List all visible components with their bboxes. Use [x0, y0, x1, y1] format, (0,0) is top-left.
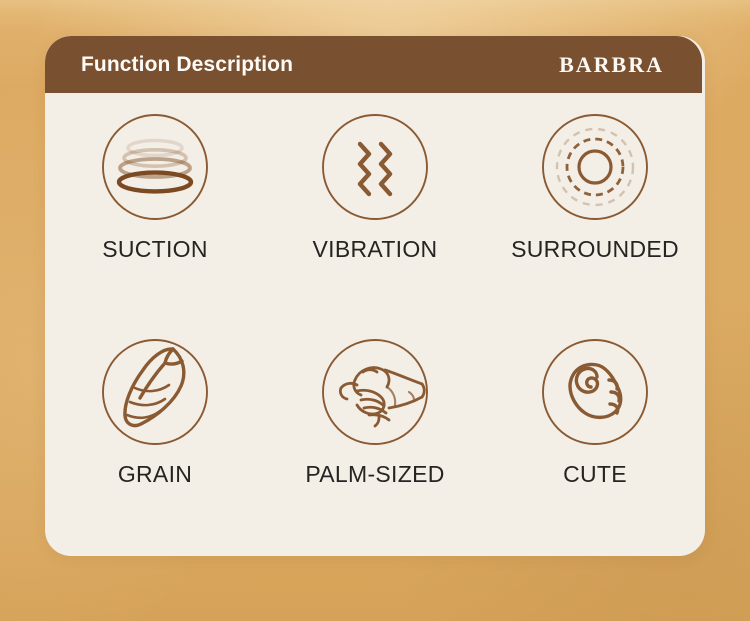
feature-label: GRAIN [118, 461, 192, 488]
zigzag-waves-icon [319, 111, 431, 223]
feature-surrounded[interactable]: SURROUNDED [485, 111, 705, 263]
spiral-blob-icon [539, 336, 651, 448]
feature-grain[interactable]: GRAIN [45, 334, 265, 488]
grain-seed-icon [99, 336, 211, 448]
feature-label: PALM-SIZED [305, 461, 444, 488]
feature-label: SUCTION [102, 236, 208, 263]
page-title: Function Description [81, 53, 293, 77]
feature-cute[interactable]: CUTE [485, 334, 705, 488]
feature-palm-sized[interactable]: PALM-SIZED [265, 334, 485, 488]
feature-label: VIBRATION [313, 236, 438, 263]
feature-label: SURROUNDED [511, 236, 679, 263]
function-description-card: Function Description BARBRA SUCTION [45, 36, 705, 556]
concentric-dashed-rings-icon [539, 111, 651, 223]
feature-grid: SUCTION VIBRATION [45, 93, 705, 556]
suction-rings-icon [99, 111, 211, 223]
card-header: Function Description BARBRA [45, 36, 702, 93]
feature-suction[interactable]: SUCTION [45, 111, 265, 263]
hand-holding-icon [319, 336, 431, 448]
feature-label: CUTE [563, 461, 627, 488]
brand-logo: BARBRA [559, 52, 678, 78]
feature-vibration[interactable]: VIBRATION [265, 111, 485, 263]
